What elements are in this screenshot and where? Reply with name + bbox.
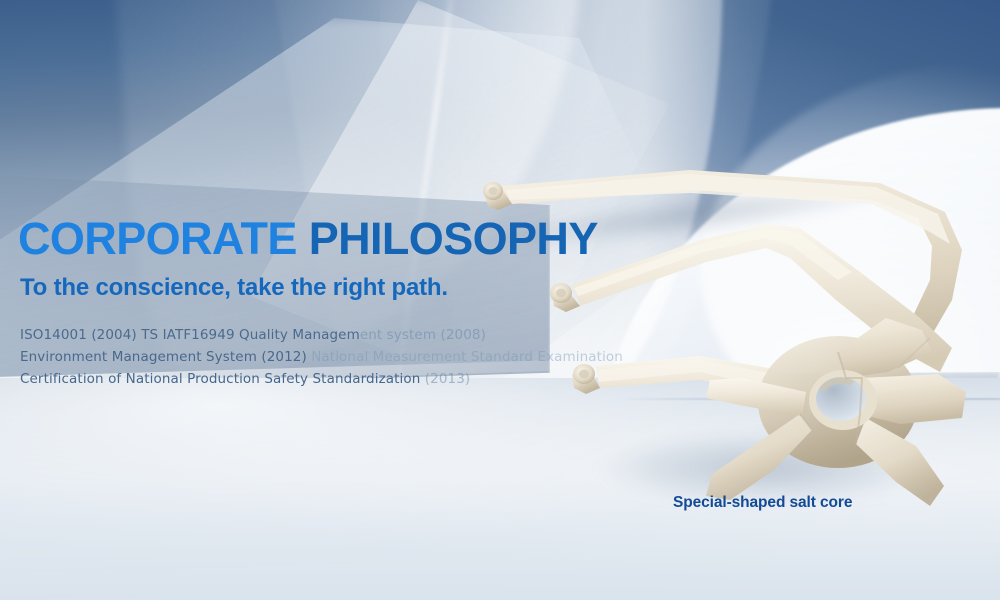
- product-upper-prong-cap-dimple: [489, 187, 498, 195]
- certification-line: Environment Management System (2012) Nat…: [20, 346, 638, 368]
- page-title: CORPORATE PHILOSOPHY: [18, 214, 638, 264]
- page-title-word-corporate: CORPORATE: [18, 213, 309, 264]
- page-subtitle: To the conscience, take the right path.: [20, 274, 638, 302]
- certification-list: ISO14001 (2004) TS IATF16949 Quality Man…: [20, 324, 638, 390]
- certification-text-faded: ent system (2008): [360, 327, 486, 343]
- headline-block: CORPORATE PHILOSOPHY To the conscience, …: [18, 214, 638, 390]
- certification-text-faded: (2013): [425, 371, 471, 387]
- certification-line: Certification of National Production Saf…: [20, 368, 638, 390]
- corporate-philosophy-banner: CORPORATE PHILOSOPHY To the conscience, …: [0, 0, 1000, 600]
- certification-text: Certification of National Production Saf…: [20, 371, 425, 387]
- certification-text: Environment Management System (2012): [20, 349, 311, 365]
- certification-text-faded: National Measurement Standard Examinatio…: [311, 349, 623, 365]
- product-caption: Special-shaped salt core: [673, 494, 852, 512]
- certification-text: ISO14001 (2004) TS IATF16949 Quality Man…: [20, 327, 360, 343]
- page-title-word-philosophy: PHILOSOPHY: [309, 213, 598, 264]
- certification-line: ISO14001 (2004) TS IATF16949 Quality Man…: [20, 324, 638, 346]
